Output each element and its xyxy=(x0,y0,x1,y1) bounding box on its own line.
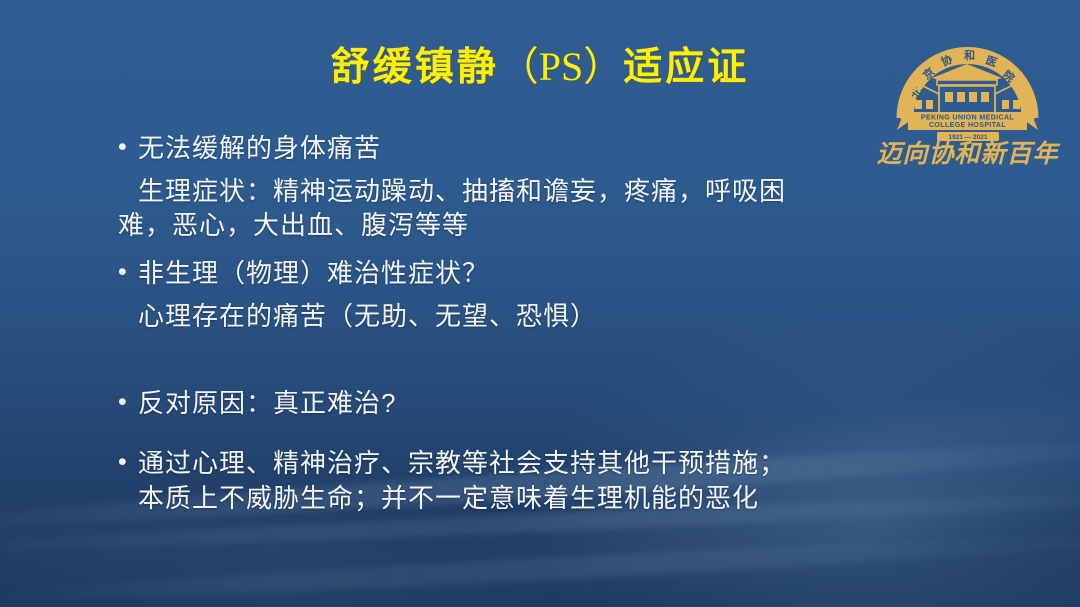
logo-ribbon-line2: COLLEGE HOSPITAL xyxy=(929,122,1006,129)
bullet-marker-icon: • xyxy=(118,135,138,160)
bullet-block-2: • 非生理（物理）难治性症状？ 心理存在的痛苦（无助、无望、恐惧） xyxy=(118,257,948,333)
slide-title-right: 适应证 xyxy=(623,46,749,89)
slide-body: • 无法缓解的身体痛苦 生理症状：精神运动躁动、抽搐和谵妄，疼痛，呼吸困 难，恶… xyxy=(118,132,948,516)
bullet-row-4: • 通过心理、精神治疗、宗教等社会支持其他干预措施； xyxy=(118,447,948,481)
bullet-block-4: • 通过心理、精神治疗、宗教等社会支持其他干预措施； 本质上不威胁生命；并不一定… xyxy=(118,447,948,515)
slide-title-left: 舒缓镇静 xyxy=(331,46,499,89)
presentation-slide: 舒缓镇静（PS）适应证 北 京 协 和 医 院 xyxy=(0,0,1080,607)
bullet-subline-1-2: 难，恶心，大出血、腹泻等等 xyxy=(118,208,948,243)
bullet-marker-icon: • xyxy=(118,390,138,415)
bullet-row-3: • 反对原因：真正难治? xyxy=(118,387,948,421)
bullet-block-3: • 反对原因：真正难治? xyxy=(118,387,948,421)
bullet-subline-1-1: 生理症状：精神运动躁动、抽搐和谵妄，疼痛，呼吸困 xyxy=(118,174,948,209)
bullet-heading-4: 通过心理、精神治疗、宗教等社会支持其他干预措施； xyxy=(138,447,786,481)
bullet-row-2: • 非生理（物理）难治性症状？ xyxy=(118,257,948,291)
bullet-heading-3: 反对原因：真正难治? xyxy=(138,387,396,421)
bullet-subline-2-1: 心理存在的痛苦（无助、无望、恐惧） xyxy=(118,299,948,334)
bullet-row-1: • 无法缓解的身体痛苦 xyxy=(118,132,948,166)
bullet-marker-icon: • xyxy=(118,260,138,285)
svg-text:和: 和 xyxy=(964,48,975,62)
bullet-heading-2: 非生理（物理）难治性症状？ xyxy=(138,257,489,291)
bullet-heading-1: 无法缓解的身体痛苦 xyxy=(138,132,381,166)
bullet-block-1: • 无法缓解的身体痛苦 生理症状：精神运动躁动、抽搐和谵妄，疼痛，呼吸困 难，恶… xyxy=(118,132,948,243)
wave-band-3 xyxy=(0,523,1080,607)
bullet-subline-4-1: 本质上不威胁生命；并不一定意味着生理机能的恶化 xyxy=(118,481,948,516)
logo-ribbon-line1: PEKING UNION MEDICAL xyxy=(921,115,1014,122)
slide-title-abbreviation: （PS） xyxy=(499,44,624,89)
bullet-marker-icon: • xyxy=(118,450,138,475)
